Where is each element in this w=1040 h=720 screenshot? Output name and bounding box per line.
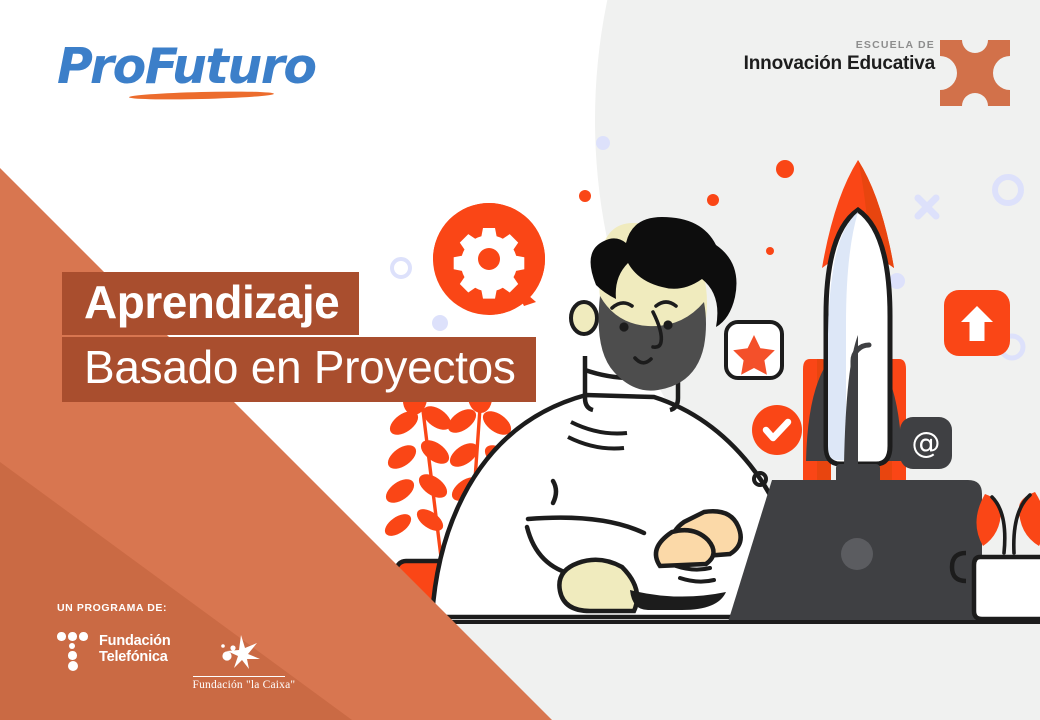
- telefonica-name-line-2: Telefónica: [99, 649, 171, 665]
- x-hourglass-icon: [940, 40, 1010, 106]
- escuela-name: Innovación Educativa: [744, 54, 935, 73]
- fundacion-la-caixa-logo[interactable]: Fundación "la Caixa": [193, 632, 285, 691]
- telefonica-dots-icon: [57, 632, 89, 666]
- title-line-1: Aprendizaje: [62, 272, 359, 335]
- page-title: Aprendizaje Basado en Proyectos: [62, 272, 536, 402]
- escuela-innovacion-logo[interactable]: ESCUELA DE Innovación Educativa: [744, 40, 935, 73]
- la-caixa-rule: [193, 676, 285, 677]
- escuela-kicker: ESCUELA DE: [744, 40, 935, 51]
- la-caixa-name: Fundación "la Caixa": [193, 679, 285, 691]
- programa-label: UN PROGRAMA DE:: [57, 602, 285, 614]
- profuturo-logo[interactable]: ProFuturo: [57, 38, 287, 108]
- title-line-2: Basado en Proyectos: [62, 337, 536, 402]
- fundacion-telefonica-logo[interactable]: Fundación Telefónica: [57, 632, 171, 666]
- telefonica-name-line-1: Fundación: [99, 633, 171, 649]
- slide-canvas: @: [0, 0, 1040, 720]
- la-caixa-star-icon: [193, 634, 285, 670]
- profuturo-logo-text: ProFuturo: [57, 38, 287, 96]
- footer-sponsors: UN PROGRAMA DE: Fundación Telefónica: [57, 602, 285, 691]
